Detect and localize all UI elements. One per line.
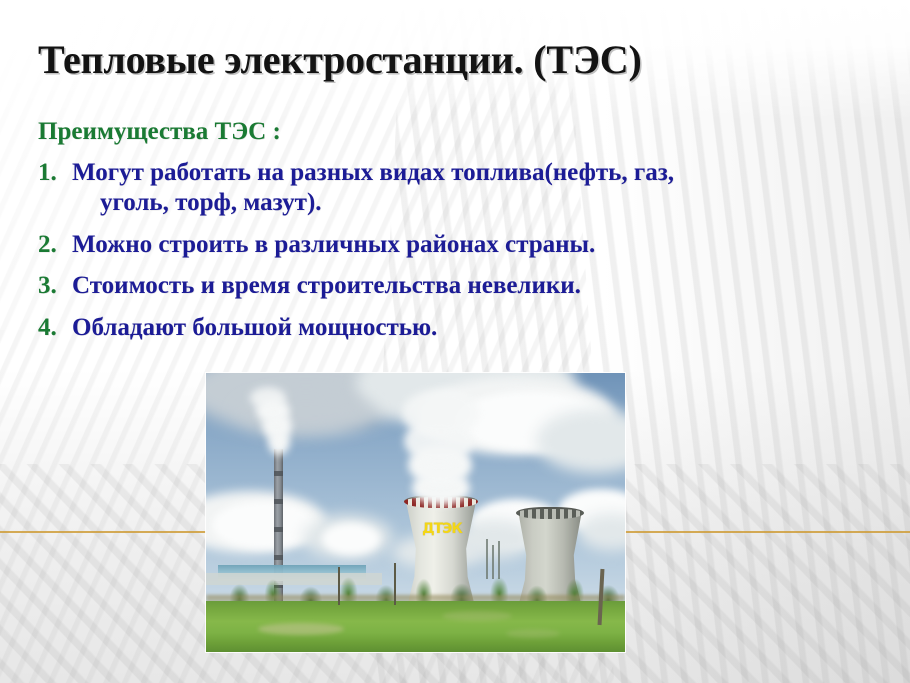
list-item-text: Обладают большой мощностью. [72, 313, 878, 344]
content-block: Преимущества ТЭС : 1. Могут работать на … [38, 118, 878, 354]
list-item: 2. Можно строить в различных районах стр… [38, 230, 878, 261]
list-item-number: 4. [38, 313, 57, 344]
tower-logo: ДТЭК [418, 521, 466, 537]
field-path-patch [506, 629, 560, 638]
list-item-text: Можно строить в различных районах страны… [72, 230, 878, 261]
chimney-band [274, 499, 283, 504]
list-item: 4. Обладают большой мощностью. [38, 313, 878, 344]
list-item-number: 3. [38, 271, 57, 302]
smoke-plume [250, 387, 286, 409]
list-item-text: Могут работать на разных видах топлива(н… [72, 158, 878, 189]
list-item: 3. Стоимость и время строительства невел… [38, 271, 878, 302]
field-path-patch [258, 623, 344, 635]
list-item-number: 1. [38, 158, 57, 189]
cloud [212, 501, 316, 549]
utility-pole [394, 563, 396, 605]
presentation-slide: Тепловые электростанции. (ТЭС) Преимущес… [0, 0, 910, 683]
chimney-band [274, 471, 283, 476]
chimney-band [274, 527, 283, 532]
steam-plume [402, 389, 480, 437]
list-item-number: 2. [38, 230, 57, 261]
list-item-text: Стоимость и время строительства невелики… [72, 271, 878, 302]
page-title: Тепловые электростанции. (ТЭС) [38, 36, 642, 83]
utility-pole [338, 567, 340, 605]
chimney-band [274, 555, 283, 560]
cloud [322, 523, 380, 555]
advantages-list: 1. Могут работать на разных видах топлив… [38, 158, 878, 344]
field-path-patch [442, 611, 512, 621]
cooling-tower-right-rim [516, 507, 584, 519]
list-item: 1. Могут работать на разных видах топлив… [38, 158, 878, 219]
power-plant-photo: ДТЭК [206, 373, 625, 652]
subheading: Преимущества ТЭС : [38, 118, 878, 146]
list-item-continuation: уголь, торф, мазут). [72, 188, 878, 219]
